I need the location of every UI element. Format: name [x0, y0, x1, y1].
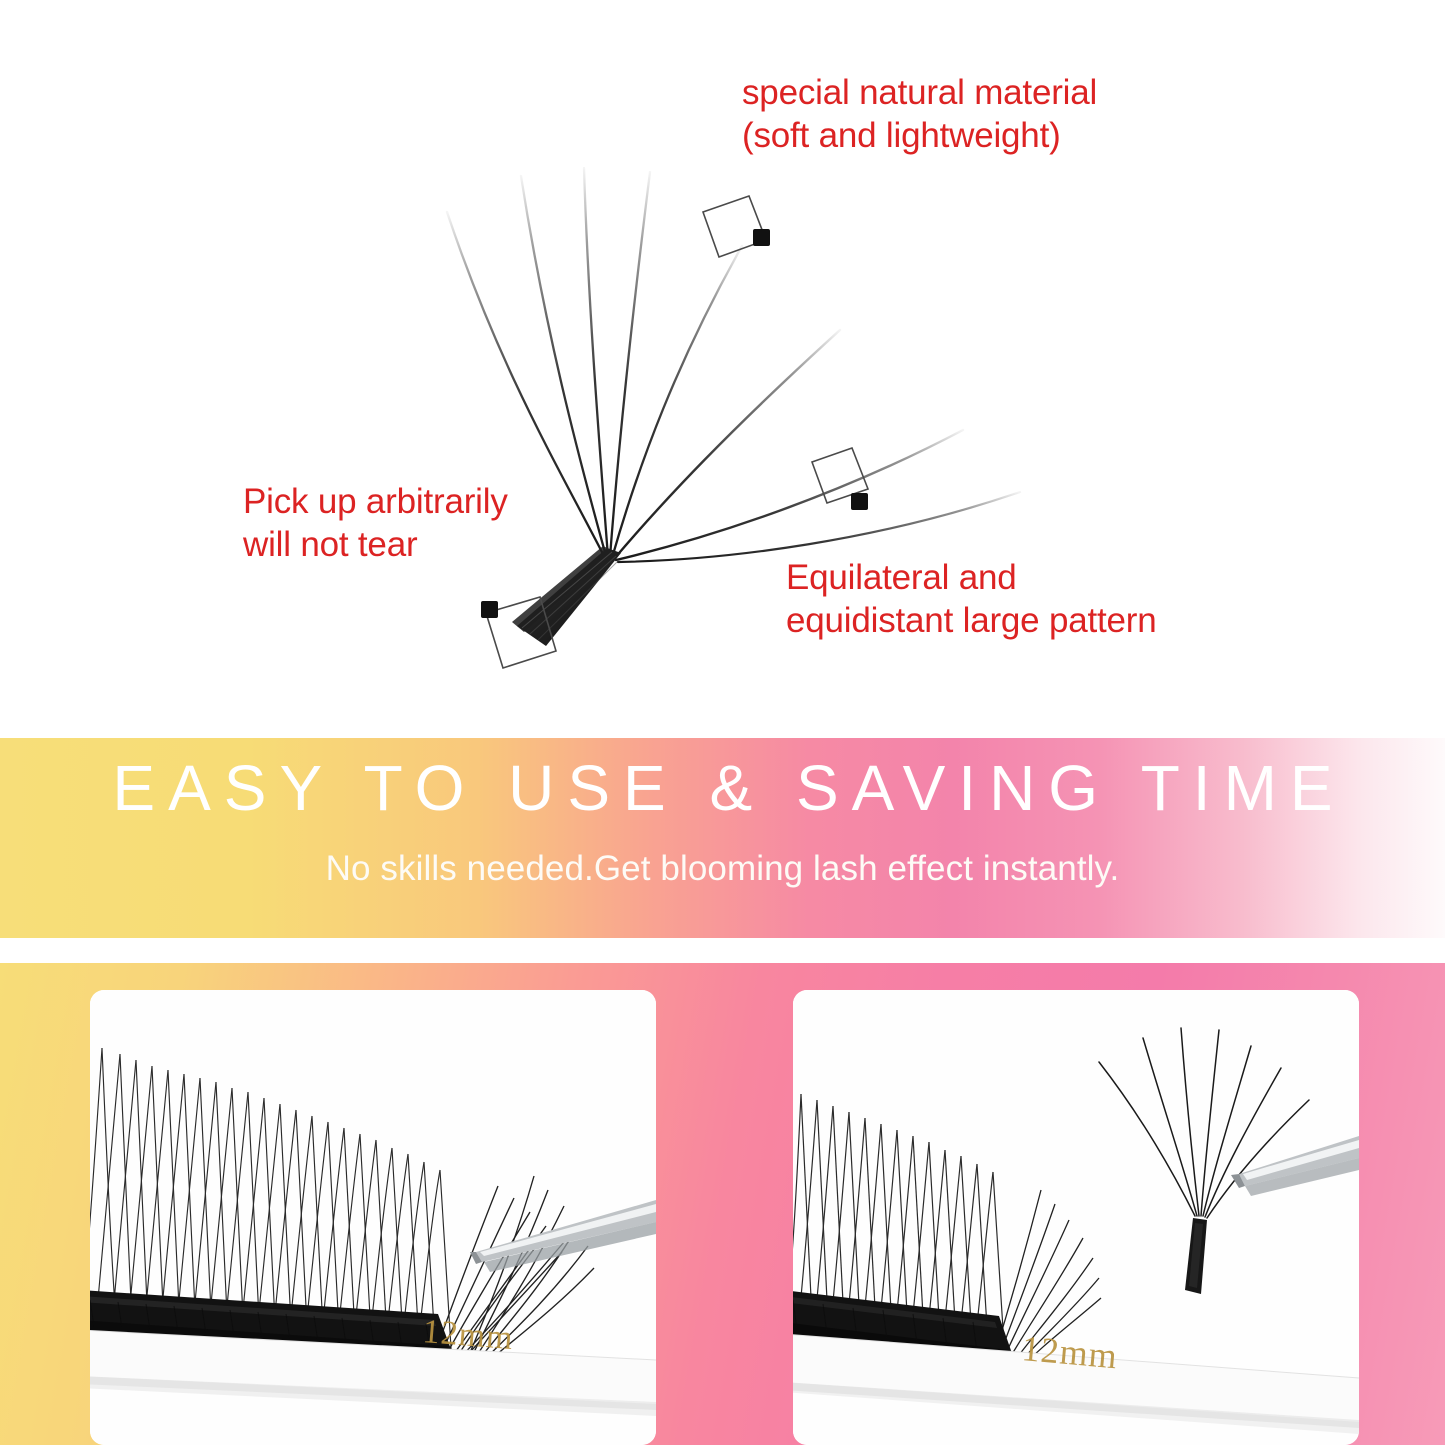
callout-pick-up-arbitrarily: Pick up arbitrarily will not tear [243, 481, 508, 566]
lash-strands [447, 168, 1020, 562]
size-label-12mm: 12mm [1020, 1328, 1119, 1376]
svg-text:12mm: 12mm [421, 1313, 515, 1357]
svg-text:12mm: 12mm [1020, 1328, 1119, 1376]
bottom-photo-section: 12mm [0, 963, 1445, 1445]
photo-single-fan-pickup: 12mm [793, 990, 1359, 1445]
white-divider-strip [0, 938, 1445, 963]
callout-equilateral-equidistant: Equilateral and equidistant large patter… [786, 557, 1157, 642]
marker-square-top [703, 196, 770, 257]
photo-lash-tray-tweezers: 12mm [90, 990, 656, 1445]
top-diagram-section: special natural material (soft and light… [0, 0, 1445, 738]
banner-headline: EASY TO USE & SAVING TIME [0, 756, 1445, 820]
lash-fan-diagram [0, 0, 1445, 738]
callout-special-natural-material: special natural material (soft and light… [742, 72, 1097, 157]
size-label-12mm: 12mm [421, 1313, 515, 1357]
lash-fan-base [512, 546, 621, 646]
feature-banner: EASY TO USE & SAVING TIME No skills need… [0, 738, 1445, 938]
banner-subheadline: No skills needed.Get blooming lash effec… [0, 851, 1445, 886]
